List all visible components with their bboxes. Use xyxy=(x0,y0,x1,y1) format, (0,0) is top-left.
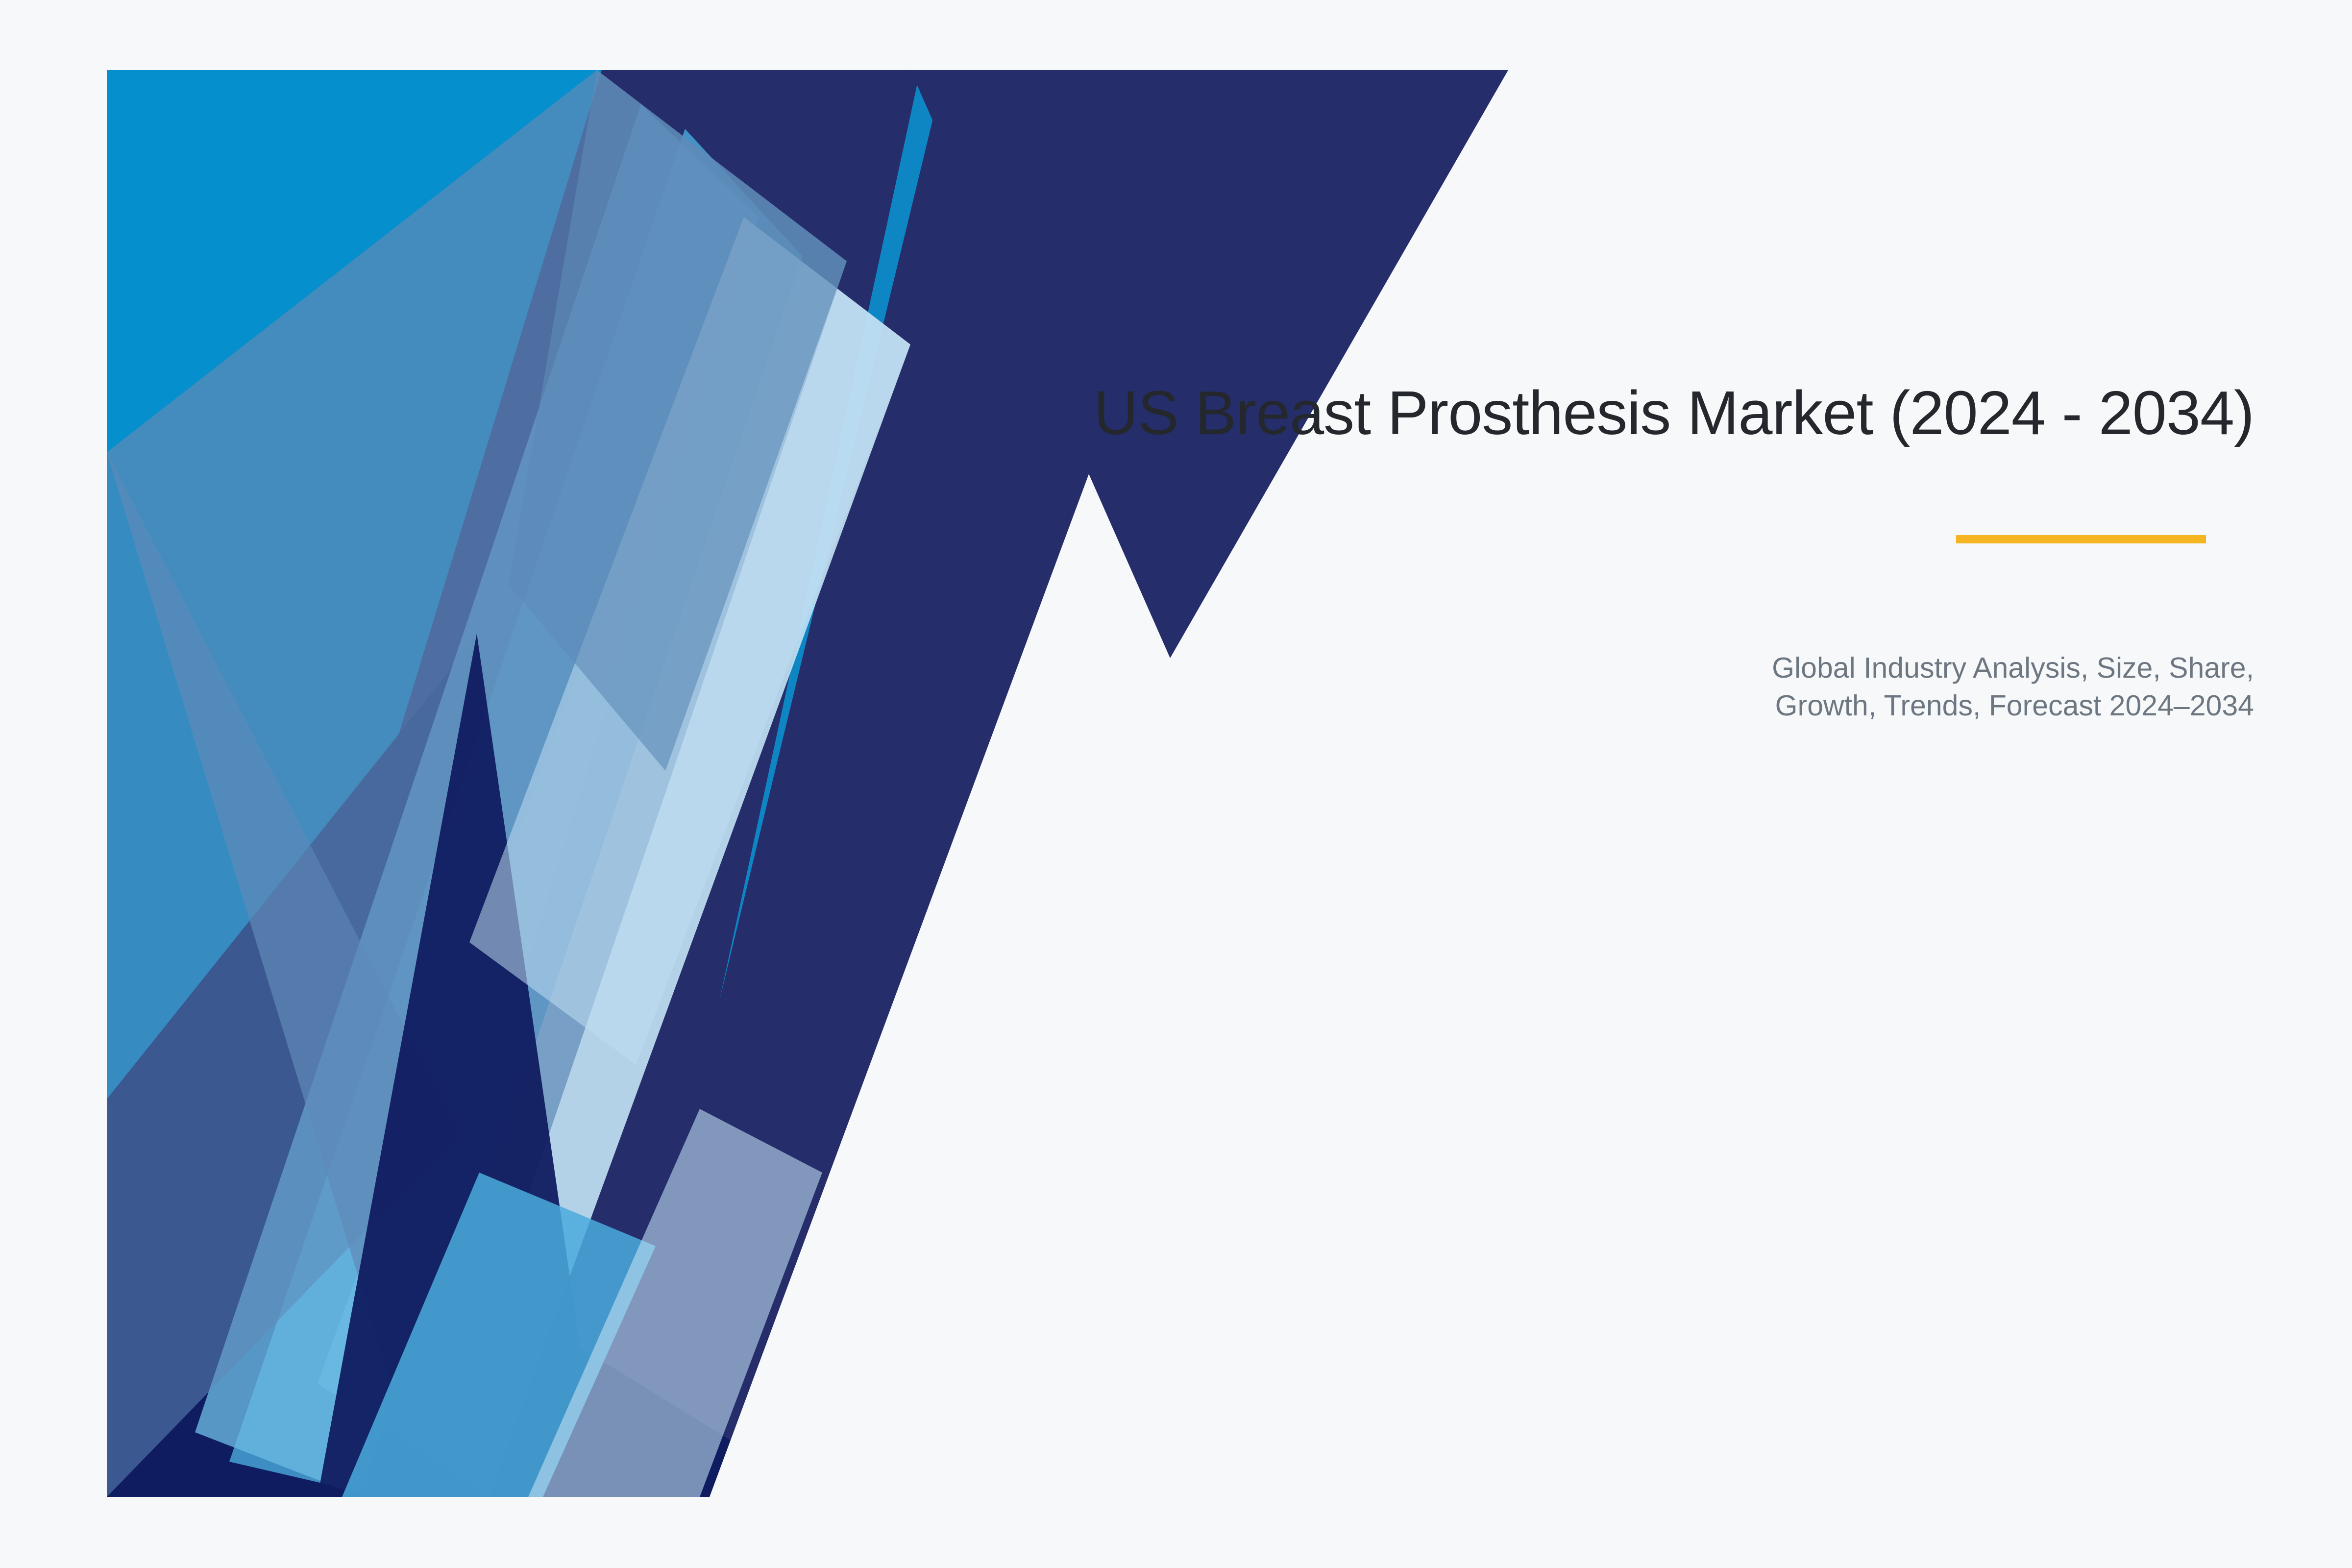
abstract-geometric-shards-graphic xyxy=(107,70,1508,1497)
page-title: US Breast Prosthesis Market (2024 - 2034… xyxy=(882,377,2254,449)
decorative-artwork xyxy=(107,70,1508,1497)
page-subtitle: Global Industry Analysis, Size, Share, G… xyxy=(1676,649,2254,724)
title-underline-wrap: US Breast Prosthesis Market (2024 - 2034… xyxy=(882,377,2254,449)
title-accent-underline xyxy=(1956,535,2206,543)
title-block: US Breast Prosthesis Market (2024 - 2034… xyxy=(882,377,2254,449)
slide-canvas: US Breast Prosthesis Market (2024 - 2034… xyxy=(0,0,2352,1568)
